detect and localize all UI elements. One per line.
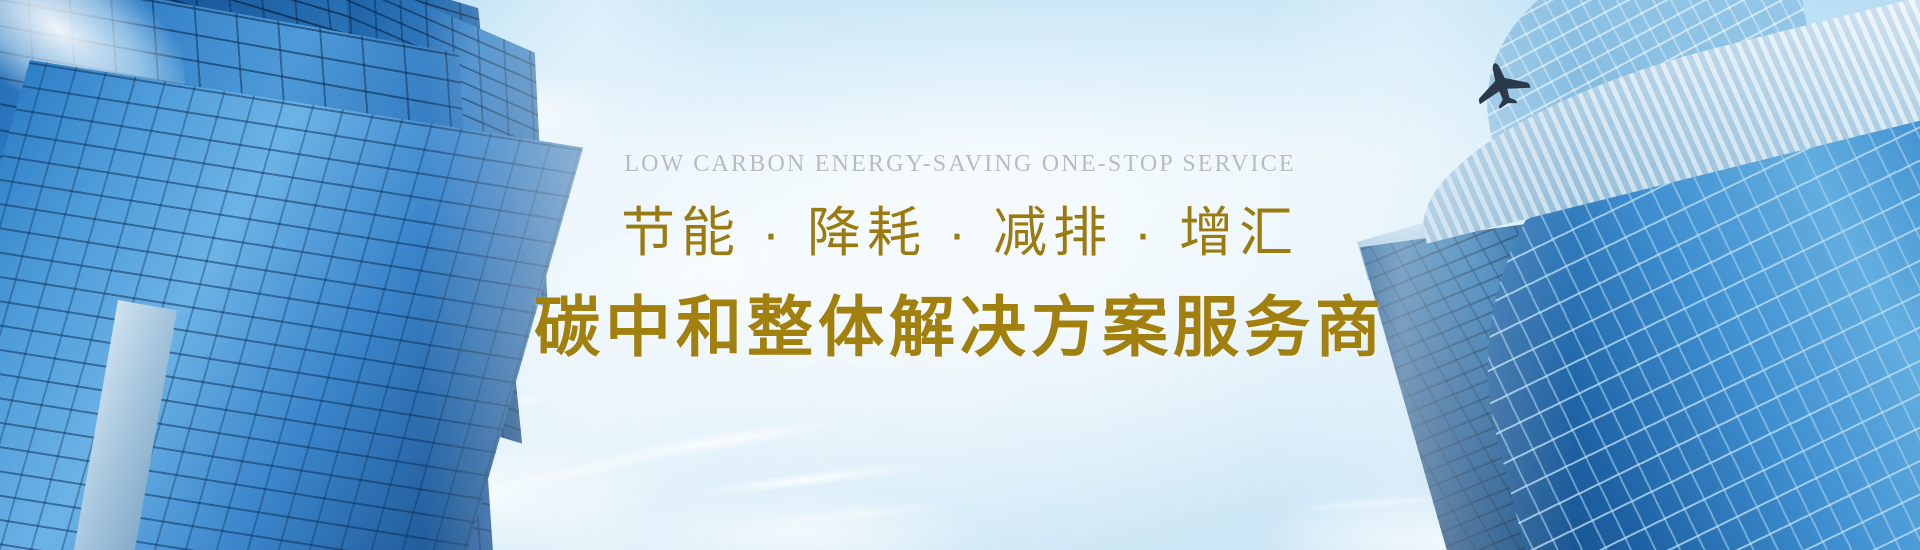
banner-copy: LOW CARBON ENERGY-SAVING ONE-STOP SERVIC… <box>0 152 1920 360</box>
cloud-wisp <box>520 400 899 485</box>
banner-subheadline-text: 碳中和整体解决方案服务商 <box>0 294 1920 360</box>
hero-banner: LOW CARBON ENERGY-SAVING ONE-STOP SERVIC… <box>0 0 1920 550</box>
cloud-wisp <box>640 450 970 510</box>
cloud <box>540 470 1060 550</box>
banner-headline-text: 节能 · 降耗 · 减排 · 增汇 <box>0 206 1920 260</box>
cloud-wisp <box>700 489 1000 540</box>
banner-eyebrow-text: LOW CARBON ENERGY-SAVING ONE-STOP SERVIC… <box>0 152 1920 176</box>
